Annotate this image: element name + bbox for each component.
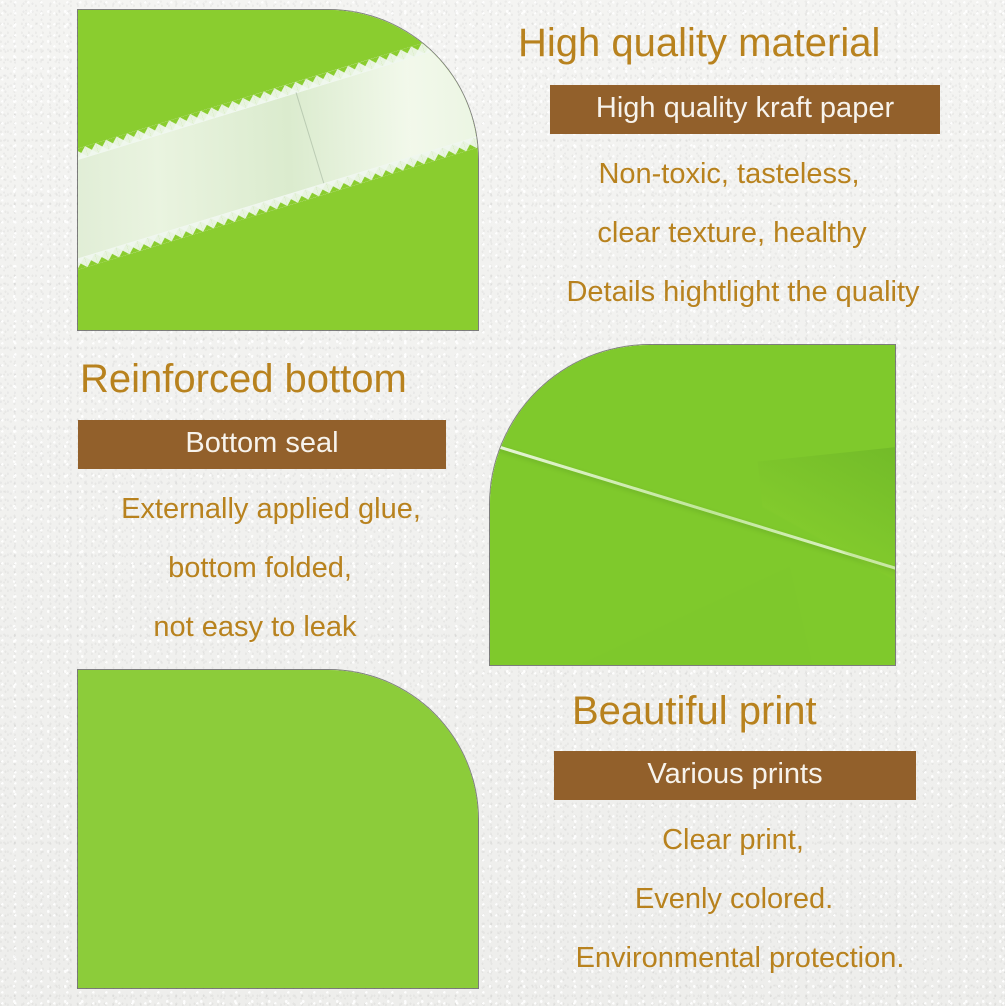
body-line: Evenly colored. xyxy=(508,885,978,914)
body-line: not easy to leak xyxy=(68,613,488,642)
photo-macro-clover-print xyxy=(78,670,478,988)
paper-fold-corner xyxy=(758,447,895,608)
body-line: Non-toxic, tasteless, xyxy=(508,160,978,189)
ribbon-print: Various prints xyxy=(554,751,916,800)
body-line: bottom folded, xyxy=(68,554,488,583)
body-line: Details hightlight the quality xyxy=(508,278,978,307)
feature-block-material: High quality material High quality kraft… xyxy=(508,22,978,307)
body-line: Environmental protection. xyxy=(508,944,978,973)
headline-material: High quality material xyxy=(508,22,978,64)
page-background: High quality material High quality kraft… xyxy=(0,0,1005,1006)
headline-bottom: Reinforced bottom xyxy=(68,358,488,400)
photo-print-detail xyxy=(490,345,895,665)
body-text-print: Clear print, Evenly colored. Environment… xyxy=(508,826,978,973)
quatrefoil-pattern-field xyxy=(78,670,478,988)
body-line: Clear print, xyxy=(508,826,978,855)
body-text-bottom: Externally applied glue, bottom folded, … xyxy=(68,495,488,642)
body-text-material: Non-toxic, tasteless, clear texture, hea… xyxy=(508,160,978,307)
glassine-seam-line xyxy=(295,92,324,184)
ribbon-bottom: Bottom seal xyxy=(78,420,446,469)
body-line: Externally applied glue, xyxy=(68,495,488,524)
body-line: clear texture, healthy xyxy=(508,219,978,248)
photo-kraft-paper-strip xyxy=(78,10,478,330)
feature-block-print: Beautiful print Various prints Clear pri… xyxy=(508,690,978,973)
ribbon-material: High quality kraft paper xyxy=(550,85,940,134)
feature-block-bottom: Reinforced bottom Bottom seal Externally… xyxy=(68,358,488,642)
headline-print: Beautiful print xyxy=(508,690,978,732)
quatrefoil-tiles xyxy=(78,670,478,988)
